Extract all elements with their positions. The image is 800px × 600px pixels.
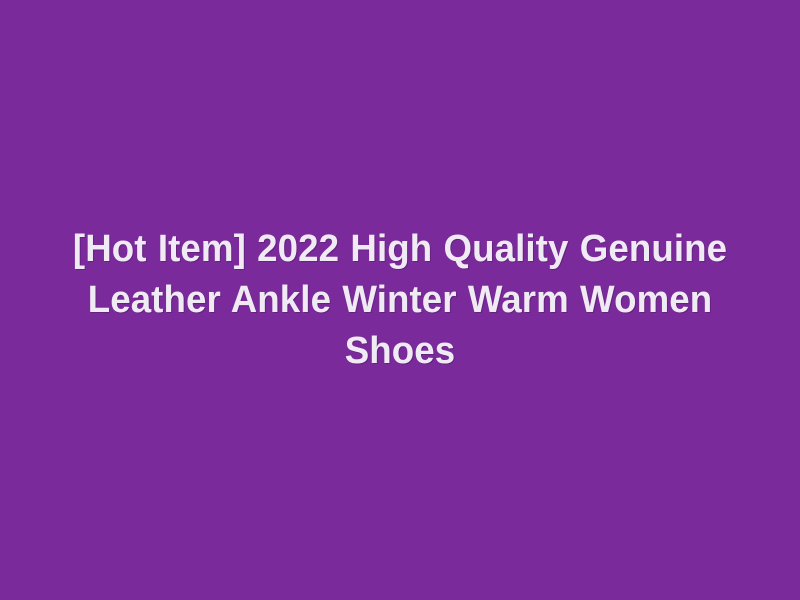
page-title: [Hot Item] 2022 High Quality Genuine Lea… [14,224,786,377]
title-block: [Hot Item] 2022 High Quality Genuine Lea… [0,0,800,600]
product-banner: [Hot Item] 2022 High Quality Genuine Lea… [0,0,800,600]
